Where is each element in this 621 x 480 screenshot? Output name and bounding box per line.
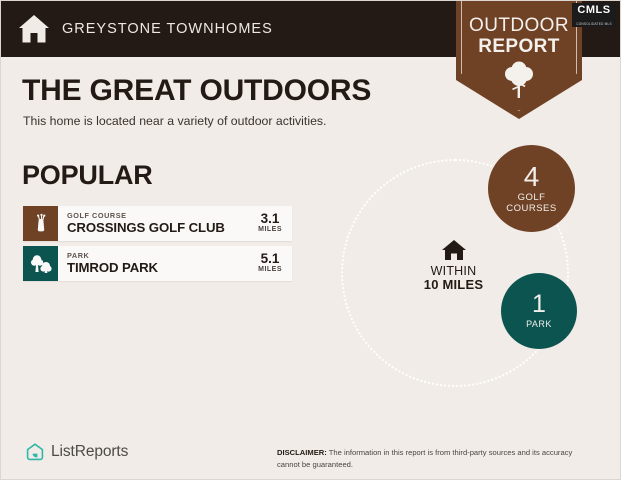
list-item-distance-unit: MILES xyxy=(258,266,282,274)
mls-logo-text: CMLS xyxy=(577,4,610,16)
home-icon xyxy=(18,14,50,44)
list-item-icon-tile xyxy=(23,246,58,281)
stat-label-line-2: COURSES xyxy=(506,204,556,215)
radius-label-line-2: 10 MILES xyxy=(411,278,496,293)
radius-label-line-1: WITHIN xyxy=(411,264,496,278)
golf-bag-icon xyxy=(30,213,52,235)
home-icon xyxy=(441,239,467,261)
stat-count: 4 xyxy=(524,163,540,191)
disclaimer: DISCLAIMER: The information in this repo… xyxy=(277,447,597,471)
radius-label: WITHIN 10 MILES xyxy=(411,239,496,293)
tree-icon xyxy=(502,61,536,99)
page-title: THE GREAT OUTDOORS xyxy=(22,74,371,108)
list-item-name: TIMROD PARK xyxy=(67,260,258,275)
mls-logo-subtext: CONSOLIDATED MLS xyxy=(572,22,616,26)
listreports-house-icon xyxy=(25,442,45,462)
list-item-text: GOLF COURSE CROSSINGS GOLF CLUB xyxy=(58,206,258,241)
listreports-logo-text: ListReports xyxy=(51,443,128,461)
list-item-icon-tile xyxy=(23,206,58,241)
stat-label-line-1: PARK xyxy=(526,319,552,329)
list-item[interactable]: GOLF COURSE CROSSINGS GOLF CLUB 3.1 MILE… xyxy=(23,206,292,241)
listreports-logo[interactable]: ListReports xyxy=(25,442,128,462)
stat-circle-parks: 1 PARK xyxy=(501,273,577,349)
list-item-distance-unit: MILES xyxy=(258,226,282,234)
stat-circle-golf-courses: 4 GOLF COURSES xyxy=(488,145,575,232)
section-title-popular: POPULAR xyxy=(22,160,153,191)
stat-label-line-1: GOLF xyxy=(518,193,546,204)
list-item-distance: 3.1 MILES xyxy=(258,206,292,241)
badge-line-1: OUTDOOR xyxy=(456,15,582,37)
list-item-category: PARK xyxy=(67,252,258,260)
list-item-text: PARK TIMROD PARK xyxy=(58,246,258,281)
mls-logo: CMLS CONSOLIDATED MLS xyxy=(572,3,616,27)
list-item-category: GOLF COURSE xyxy=(67,212,258,220)
list-item-distance-value: 3.1 xyxy=(261,212,280,226)
park-trees-icon xyxy=(29,253,53,275)
page-subtitle: This home is located near a variety of o… xyxy=(23,114,326,128)
property-name: GREYSTONE TOWNHOMES xyxy=(62,21,273,37)
list-item-name: CROSSINGS GOLF CLUB xyxy=(67,220,258,235)
list-item-distance: 5.1 MILES xyxy=(258,246,292,281)
list-item[interactable]: PARK TIMROD PARK 5.1 MILES xyxy=(23,246,292,281)
outdoor-report-page: GREYSTONE TOWNHOMES CMLS CONSOLIDATED ML… xyxy=(0,0,621,480)
disclaimer-label: DISCLAIMER: xyxy=(277,448,327,457)
stat-count: 1 xyxy=(532,292,546,317)
report-type-badge: OUTDOOR REPORT xyxy=(456,1,582,119)
list-item-distance-value: 5.1 xyxy=(261,252,280,266)
popular-list: GOLF COURSE CROSSINGS GOLF CLUB 3.1 MILE… xyxy=(23,206,292,286)
badge-line-2: REPORT xyxy=(456,36,582,58)
